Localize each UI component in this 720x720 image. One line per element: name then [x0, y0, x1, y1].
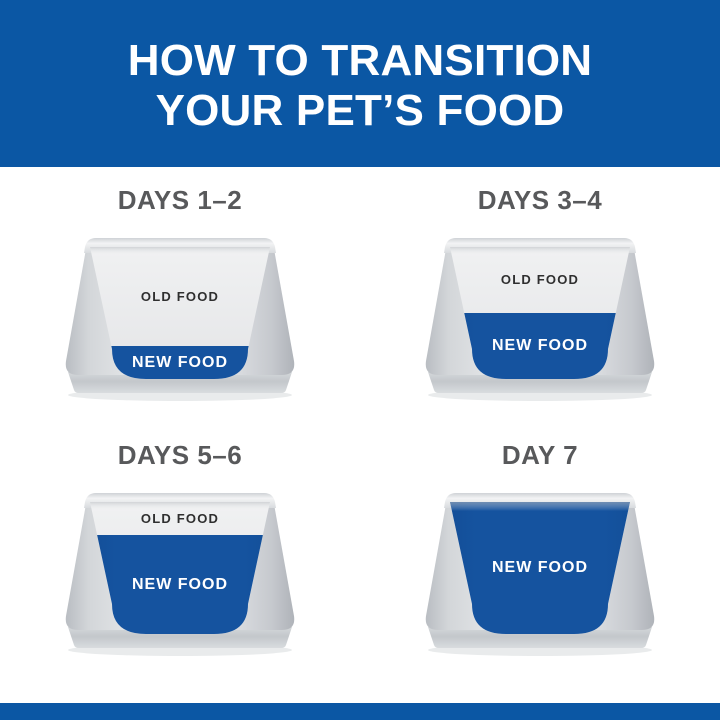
bowl-graphic-day-7 — [410, 484, 670, 659]
bowl-graphic-days-3-4 — [410, 229, 670, 404]
header-banner: HOW TO TRANSITION YOUR PET’S FOOD — [0, 0, 720, 167]
food-bowl-days-1-2: OLD FOODNEW FOOD — [50, 229, 310, 404]
stage-title-day-7: DAY 7 — [360, 440, 720, 471]
bowl-graphic-days-5-6 — [50, 484, 310, 659]
food-bowl-days-3-4: OLD FOODNEW FOOD — [410, 229, 670, 404]
stage-day-7: DAY 7 — [360, 440, 720, 698]
page-title-line-2: YOUR PET’S FOOD — [156, 86, 565, 136]
stage-days-3-4: DAYS 3–4 — [360, 185, 720, 443]
stage-title-days-1-2: DAYS 1–2 — [0, 185, 360, 216]
footer-bar — [0, 703, 720, 720]
stage-grid: DAYS 1–2 — [0, 167, 720, 703]
stage-days-1-2: DAYS 1–2 — [0, 185, 360, 443]
food-bowl-day-7: OLD FOODNEW FOOD — [410, 484, 670, 659]
page-title-line-1: HOW TO TRANSITION — [128, 36, 593, 86]
stage-title-days-3-4: DAYS 3–4 — [360, 185, 720, 216]
food-bowl-days-5-6: OLD FOODNEW FOOD — [50, 484, 310, 659]
bowl-graphic-days-1-2 — [50, 229, 310, 404]
stage-days-5-6: DAYS 5–6 — [0, 440, 360, 698]
infographic-root: HOW TO TRANSITION YOUR PET’S FOOD DAYS 1… — [0, 0, 720, 720]
stage-title-days-5-6: DAYS 5–6 — [0, 440, 360, 471]
